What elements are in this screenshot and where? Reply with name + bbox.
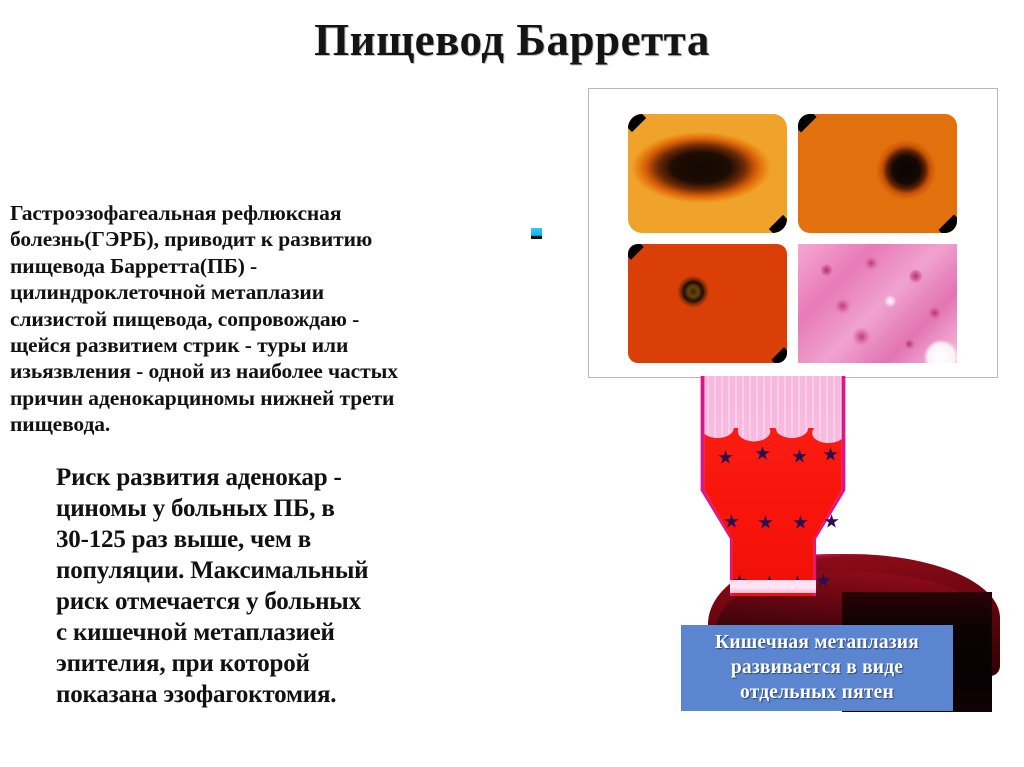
metaplasia-star-marker [816, 573, 831, 588]
caption-box: Кишечная метаплазия развивается в виде о… [681, 625, 953, 711]
body-text-column: Гастроэзофагеальная рефлюксная болезнь(Г… [10, 200, 530, 710]
slide-canvas: Пищевод Барретта Гастроэзофагеальная реф… [0, 0, 1024, 767]
gastroesophageal-junction-band [730, 580, 816, 593]
paragraph-gerd-definition: Гастроэзофагеальная рефлюксная болезнь(Г… [10, 200, 530, 438]
caption-text: Кишечная метаплазия развивается в виде о… [715, 630, 919, 705]
panel-endoscopy-lumen-round [798, 114, 957, 233]
paragraph-adenocarcinoma-risk: Риск развития аденокар - циномы у больны… [56, 462, 530, 710]
barrett-metaplasia-segment [700, 428, 846, 596]
panel-histology-intestinal-metaplasia [798, 244, 957, 363]
square-bullet-icon [531, 228, 542, 239]
panel-endoscopy-barrett-tongues [628, 114, 787, 233]
esophagus-tube [696, 376, 850, 596]
page-title: Пищевод Барретта [0, 14, 1024, 66]
endoscopy-histology-grid [628, 114, 957, 369]
panel-endoscopy-ulcer [628, 244, 787, 363]
